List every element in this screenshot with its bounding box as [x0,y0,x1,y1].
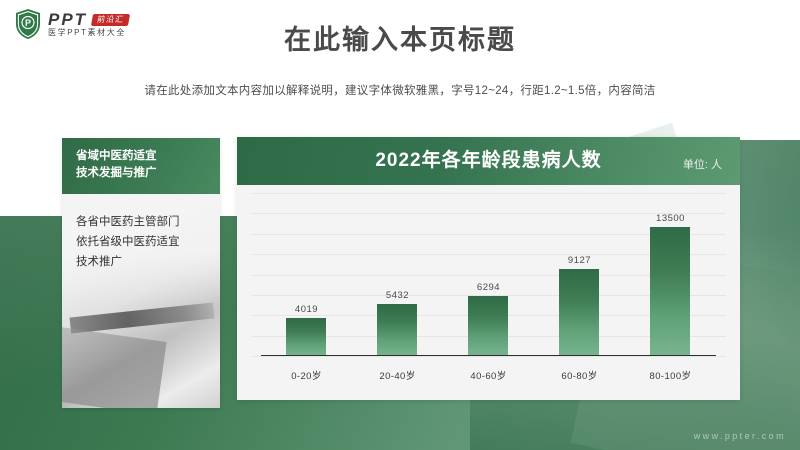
bar-value-label: 6294 [477,282,500,293]
bar-value-label: 13500 [656,213,685,224]
bar-value-label: 9127 [568,255,591,266]
bar[interactable] [468,296,508,356]
gridline [251,356,726,357]
x-tick-label: 60-80岁 [539,368,621,382]
bar-value-label: 5432 [386,290,409,301]
bar-value-label: 4019 [295,304,318,315]
bar[interactable] [559,269,599,356]
chart-unit-label: 单位: 人 [683,137,722,185]
x-tick-label: 0-20岁 [266,368,348,382]
bar-group: 6294 [448,193,530,356]
bar[interactable] [286,318,326,356]
chart-panel: 2022年各年龄段患病人数 单位: 人 40195432629491271350… [237,137,740,400]
site-watermark: www.ppter.com [694,431,786,441]
bar-group: 4019 [266,193,348,356]
bar[interactable] [650,227,690,356]
left-card-body-text: 各省中医药主管部门 依托省级中医药适宜 技术推广 [76,212,206,272]
x-tick-label: 40-60岁 [448,368,530,382]
chart-x-axis-line [261,355,716,357]
chart-header: 2022年各年龄段患病人数 单位: 人 [237,137,740,185]
left-info-card: 省域中医药适宜 技术发掘与推广 各省中医药主管部门 依托省级中医药适宜 技术推广 [62,138,220,408]
chart-plot-area: 401954326294912713500 0-20岁20-40岁40-60岁6… [237,185,740,400]
slide-canvas: P PPT 前沿汇 医学PPT素材大全 在此输入本页标题 请在此处添加文本内容加… [0,0,800,450]
chart-title: 2022年各年龄段患病人数 [237,137,740,185]
chart-x-tick-labels: 0-20岁20-40岁40-60岁60-80岁80-100岁 [261,368,716,382]
left-card-header-text: 省域中医药适宜 技术发掘与推广 [76,148,220,183]
chart-bars: 401954326294912713500 [261,193,716,356]
bar-group: 5432 [357,193,439,356]
left-card-header: 省域中医药适宜 技术发掘与推广 [62,138,220,194]
bar-group: 13500 [630,193,712,356]
page-title: 在此输入本页标题 [0,18,800,57]
left-card-body: 各省中医药主管部门 依托省级中医药适宜 技术推广 [62,194,220,272]
x-tick-label: 80-100岁 [630,368,712,382]
page-subtitle: 请在此处添加文本内容加以解释说明，建议字体微软雅黑，字号12~24，行距1.2~… [0,82,800,98]
bar-group: 9127 [539,193,621,356]
x-tick-label: 20-40岁 [357,368,439,382]
bar[interactable] [377,304,417,356]
